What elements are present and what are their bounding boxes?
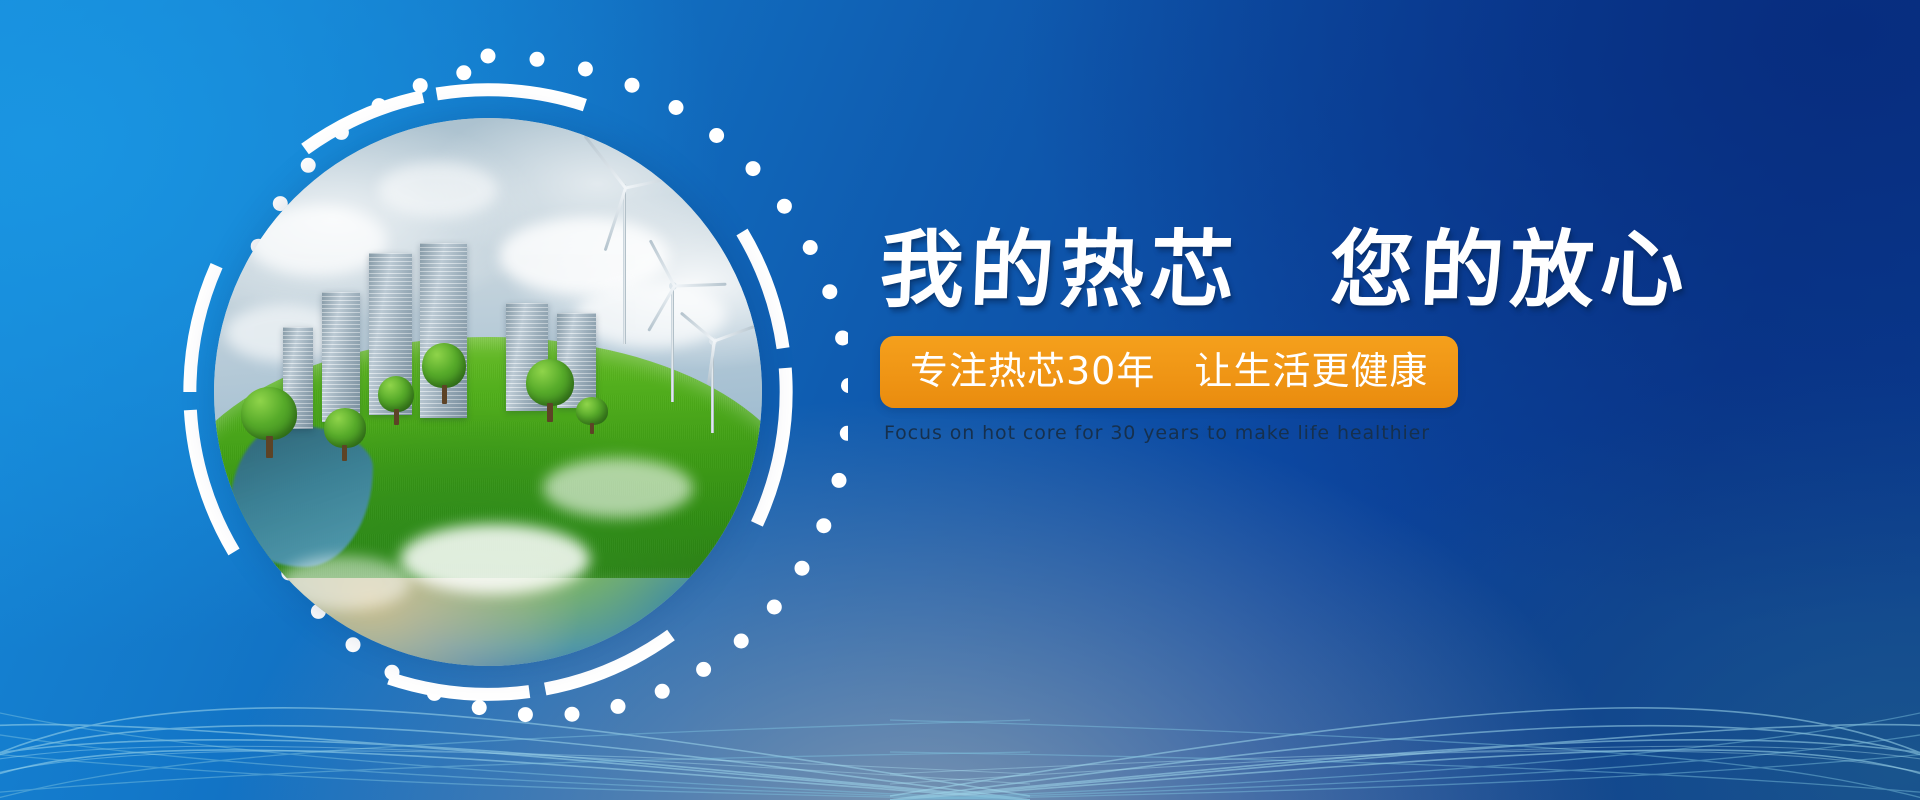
bottom-mesh-right bbox=[890, 570, 1920, 800]
cloud-puff bbox=[400, 524, 590, 594]
tree bbox=[422, 343, 466, 403]
tree bbox=[241, 387, 297, 457]
cloud-puff bbox=[280, 556, 410, 610]
wind-turbine bbox=[691, 337, 735, 433]
tree bbox=[324, 408, 366, 460]
headline: 我的热芯 您的放心 bbox=[879, 228, 1702, 312]
banner-copy: 我的热芯 您的放心 专注热芯30年 让生活更健康 Focus on hot co… bbox=[880, 228, 1700, 444]
globe-composite bbox=[214, 118, 762, 666]
skyscraper bbox=[322, 292, 360, 422]
tree bbox=[526, 359, 574, 421]
cloud-puff bbox=[543, 458, 693, 518]
badge-subtitle: 专注热芯30年 让生活更健康 bbox=[880, 336, 1458, 408]
tree bbox=[576, 397, 608, 433]
tree bbox=[378, 376, 414, 424]
cloud-puff bbox=[378, 162, 498, 218]
english-tagline: Focus on hot core for 30 years to make l… bbox=[884, 422, 1700, 444]
banner-stage: 我的热芯 您的放心 专注热芯30年 让生活更健康 Focus on hot co… bbox=[0, 0, 1920, 800]
eco-globe-graphic bbox=[128, 32, 848, 752]
